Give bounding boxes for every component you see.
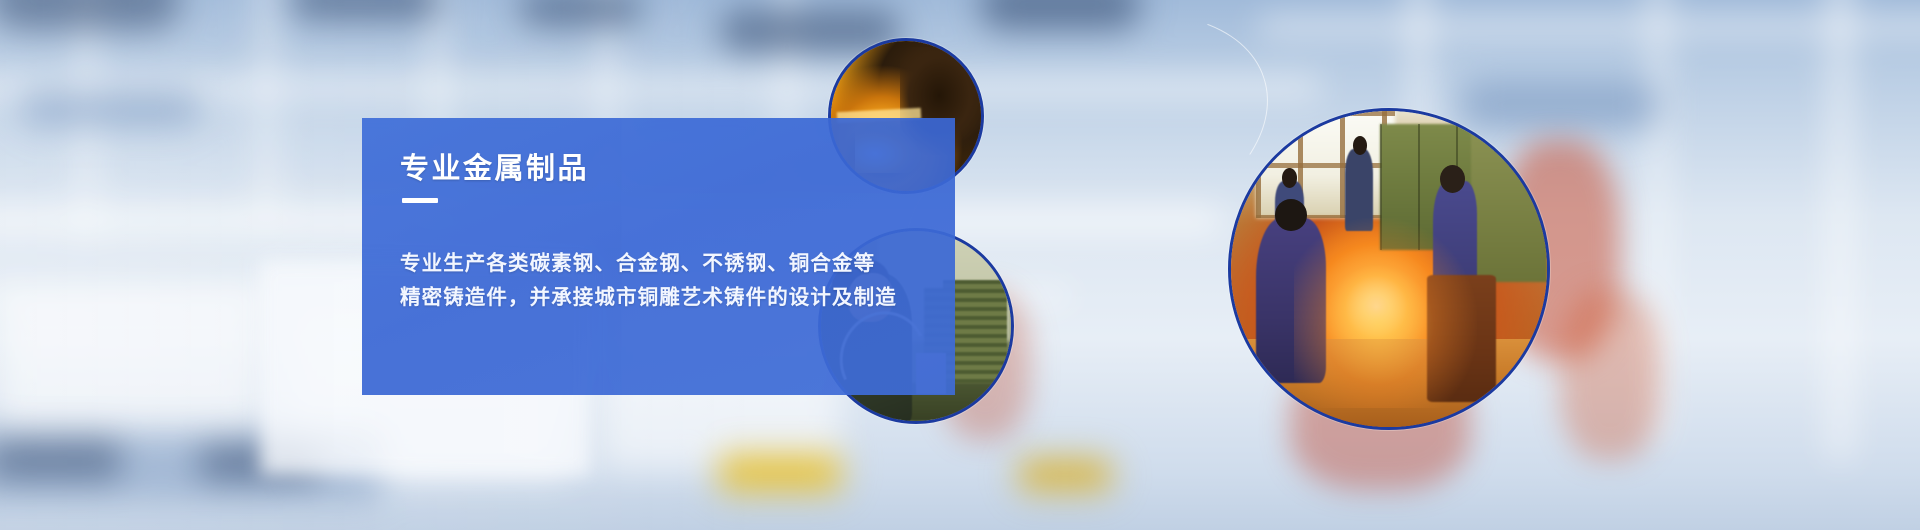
foundry-photo [1228, 108, 1550, 430]
panel-body-line-2: 精密铸造件，并承接城市铜雕艺术铸件的设计及制造 [400, 280, 897, 310]
title-divider-rule [402, 198, 438, 203]
foundry-molten-stream [1375, 263, 1388, 383]
foundry-furnace-cabinet [1471, 130, 1547, 282]
foundry-worker-head [1440, 165, 1465, 193]
foundry-worker-head [1353, 136, 1367, 155]
foundry-photo-image [1231, 111, 1547, 427]
headline-panel-content: 专业金属制品 专业生产各类碳素钢、合金钢、不锈钢、铜合金等 精密铸造件，并承接城… [362, 118, 955, 395]
page-title: 专业金属制品 [400, 145, 589, 187]
hero-banner: 专业金属制品 专业生产各类碳素钢、合金钢、不锈钢、铜合金等 精密铸造件，并承接城… [0, 0, 1920, 530]
panel-body-line-1: 专业生产各类碳素钢、合金钢、不锈钢、铜合金等 [400, 246, 875, 276]
